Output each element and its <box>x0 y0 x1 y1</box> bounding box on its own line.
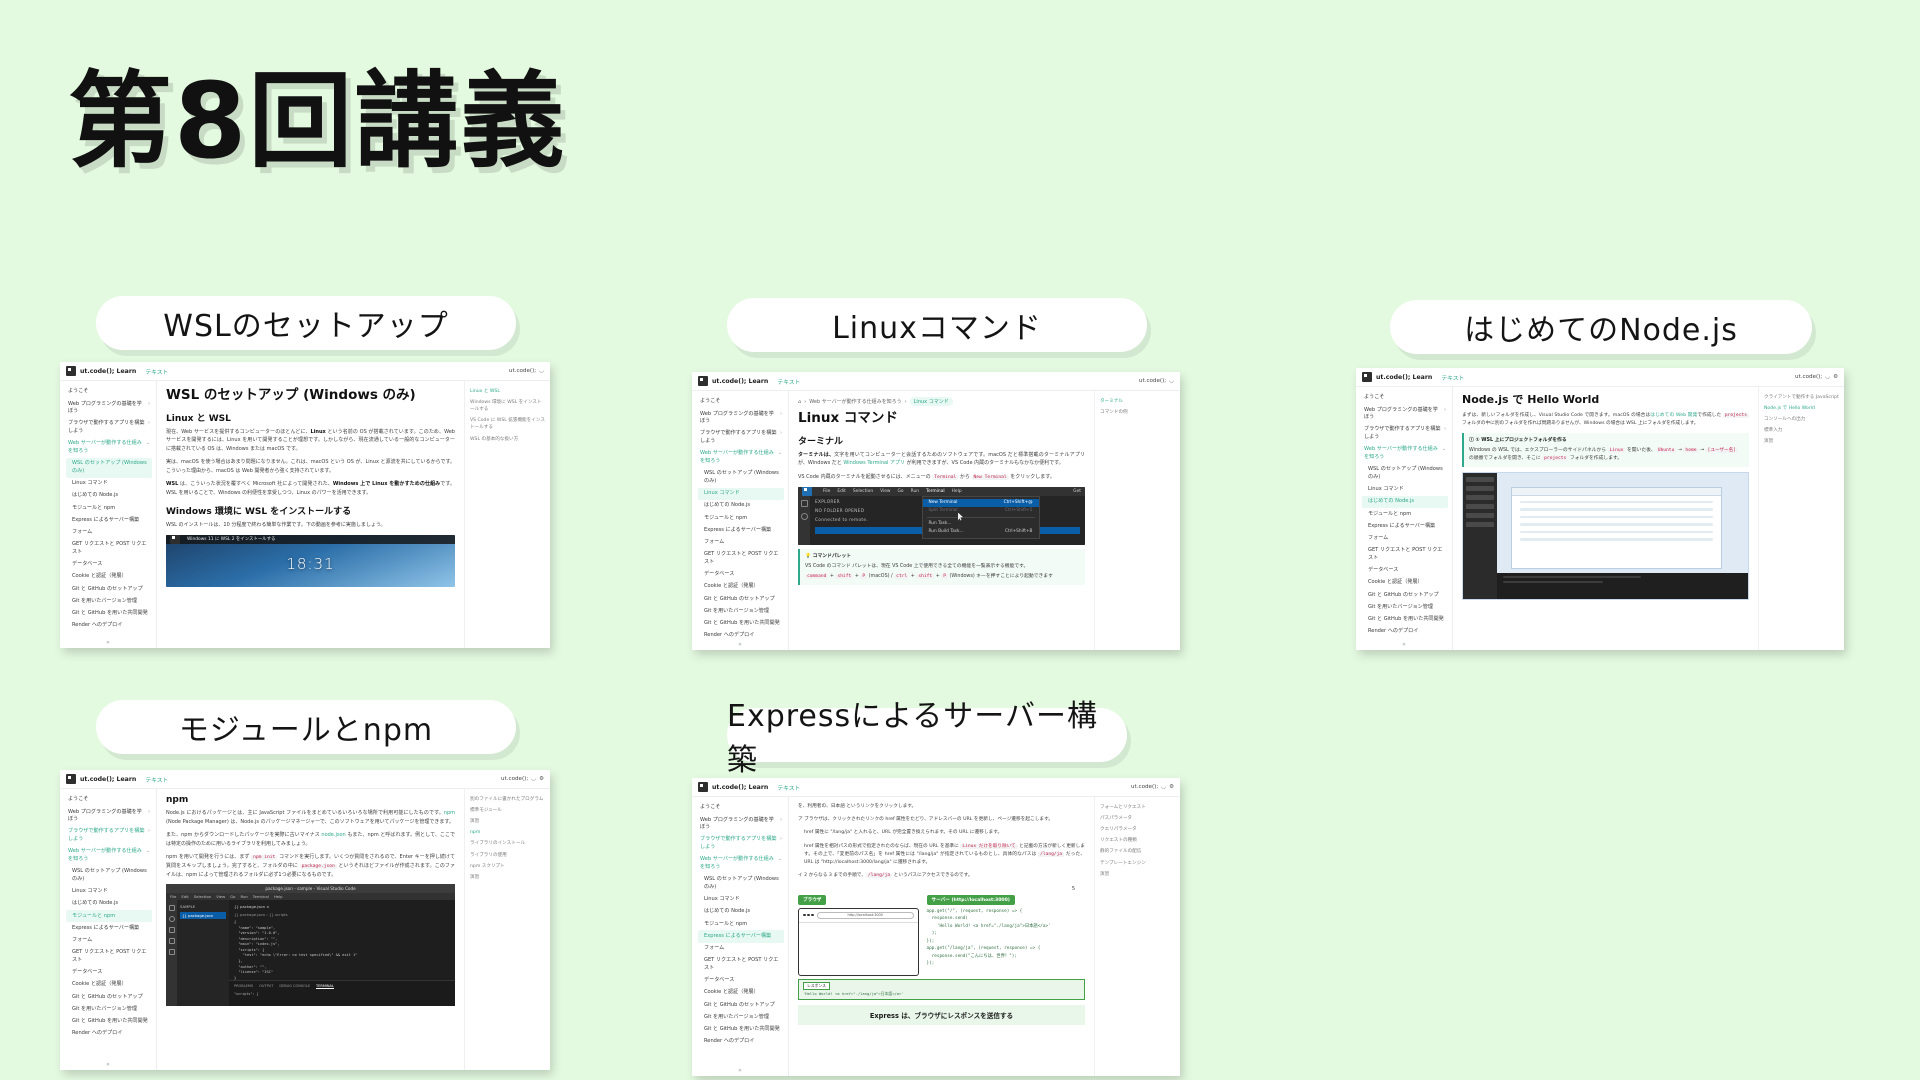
sidebar-item-render-deploy[interactable]: Render へのデプロイ <box>66 1028 152 1040</box>
inline-code: /lang/ja <box>1038 852 1064 857</box>
toc-item[interactable]: 演習 <box>470 874 545 881</box>
toc-item[interactable]: コマンドの例 <box>1100 409 1175 416</box>
sidebar-item-get-post[interactable]: GET リクエストと POST リクエスト <box>66 947 152 967</box>
sidebar-item-webserver[interactable]: Web サーバーが動作する仕組みを知ろう⌄ <box>1362 444 1448 464</box>
toc-item[interactable]: リクエストの種類 <box>1100 837 1175 844</box>
content-paragraph: WSL は、こういった状況を覆すべく Microsoft 社によって開発された、… <box>166 480 455 497</box>
text-run: から <box>958 474 971 480</box>
content-list-item: href 属性を相対パスの形式で指定されたのならば、現在の URL を基準に L… <box>798 843 1085 868</box>
right-toc[interactable]: フォームとリクエスト パスパラメータ クエリパラメータ リクエストの種類 静的フ… <box>1094 797 1180 1076</box>
sidebar-item-label: Linux コマンド <box>704 896 740 904</box>
sidebar-item-get-post[interactable]: GET リクエストと POST リクエスト <box>698 955 784 975</box>
sidebar-item-git-github-setup[interactable]: Git と GitHub のセットアップ <box>698 999 784 1011</box>
sidebar-item-git-collab[interactable]: Git と GitHub を用いた共同開発 <box>1362 614 1448 626</box>
left-sidebar[interactable]: ようこそ Web プログラミングの基礎を学ぼう› ブラウザで動作するアプリを構築… <box>60 789 157 1070</box>
sidebar-item-get-post[interactable]: GET リクエストと POST リクエスト <box>1362 545 1448 565</box>
text-run: (macOS) / <box>867 574 894 579</box>
inline-code: npm init <box>251 855 277 860</box>
sidebar-item-render-deploy[interactable]: Render へのデプロイ <box>66 620 152 632</box>
sidebar-item-cookie-auth[interactable]: Cookie と認証（発展） <box>66 571 152 583</box>
sidebar-item-label: Git と GitHub を用いた共同開発 <box>1368 616 1444 624</box>
inline-code: Linux <box>1608 448 1626 453</box>
files-icon[interactable] <box>169 905 175 911</box>
tag-browser: ブラウザ <box>798 895 826 905</box>
sidebar-item-git-version[interactable]: Git を用いたバージョン管理 <box>698 1011 784 1023</box>
panel-row <box>1466 504 1494 509</box>
sidebar-item-label: Web プログラミングの基礎を学ぼう <box>68 809 145 824</box>
sidebar-collapse-icon[interactable]: « <box>60 639 156 646</box>
file-explorer-dialog <box>1511 487 1722 569</box>
sidebar-item-linux-command[interactable]: Linux コマンド <box>66 886 152 898</box>
sidebar-item-git-github-setup[interactable]: Git と GitHub のセットアップ <box>698 593 784 605</box>
extensions-icon[interactable] <box>169 949 175 955</box>
sidebar-item-render-deploy[interactable]: Render へのデプロイ <box>698 1036 784 1048</box>
sidebar-item-linux-command[interactable]: Linux コマンド <box>1362 484 1448 496</box>
sidebar-item-label: Render へのデプロイ <box>72 622 122 630</box>
sidebar-item-label: Web サーバーが動作する仕組みを知ろう <box>68 848 143 863</box>
content-paragraph: を、利用者の、日本語 というリンクをクリックします。 <box>798 803 1085 811</box>
toc-item[interactable]: テンプレートエンジン <box>1100 860 1175 867</box>
sidebar-item-form[interactable]: フォーム <box>1362 533 1448 545</box>
menu-go[interactable]: Go <box>230 894 235 899</box>
inline-link[interactable]: node.json <box>321 832 345 838</box>
vscode-editor[interactable]: {} package.json × {} package.json › {} s… <box>229 900 455 1006</box>
terminal-menu-dropdown[interactable]: New Terminal Ctrl+Shift+@ Split Terminal… <box>922 496 1040 539</box>
sidebar-item-label: Git と GitHub のセットアップ <box>72 586 143 594</box>
vscode-dark-panel <box>1463 473 1497 599</box>
sidebar-collapse-icon[interactable]: « <box>60 1061 156 1068</box>
nav-text-link[interactable]: テキスト <box>145 367 168 376</box>
sidebar-item-database[interactable]: データベース <box>66 967 152 979</box>
menu-edit[interactable]: Edit <box>181 894 188 899</box>
content-paragraph: VS Code 内蔵のターミナルを起動させるには、メニューの Terminal … <box>798 473 1085 482</box>
toc-item[interactable]: npm スクリプト <box>470 863 545 870</box>
vscode-activitybar[interactable] <box>166 900 177 1006</box>
chevron-right-icon: › <box>780 836 782 851</box>
sidebar-item-form[interactable]: フォーム <box>698 537 784 549</box>
text-run: を開いた後、 <box>1625 448 1655 453</box>
sidebar-item-express[interactable]: Express によるサーバー構築 <box>698 930 784 942</box>
text-run: フォルダを作成します。 <box>1568 456 1622 461</box>
inline-code: command <box>805 574 828 579</box>
toc-item[interactable]: npm <box>470 829 545 836</box>
sidebar-item-form[interactable]: フォーム <box>66 935 152 947</box>
text-run: 現在、Web サービスを提供するコンピューターのほとんどに、 <box>166 429 311 435</box>
sidebar-item-get-post[interactable]: GET リクエストと POST リクエスト <box>66 539 152 559</box>
toc-item[interactable]: Windows 環境に WSL をインストールする <box>470 399 545 413</box>
topbar-brand-right[interactable]: ut.code(); <box>1139 378 1166 384</box>
sidebar-item-label: Express によるサーバー構築 <box>72 517 139 525</box>
sidebar-item-git-github-setup[interactable]: Git と GitHub のセットアップ <box>66 583 152 595</box>
sidebar-item-cookie-auth[interactable]: Cookie と認証（発展） <box>698 987 784 999</box>
text-strong: WSL <box>166 481 178 487</box>
sidebar-item-express[interactable]: Express によるサーバー構築 <box>66 922 152 934</box>
menuitem-run-task[interactable]: Run Task... <box>923 520 1039 528</box>
sidebar-item-label: Web プログラミングの基礎を学ぼう <box>1364 407 1441 422</box>
menuitem-shortcut: Ctrl+Shift+@ <box>1004 500 1033 505</box>
sidebar-item-webserver[interactable]: Web サーバーが動作する仕組みを知ろう⌄ <box>698 448 784 468</box>
right-toc[interactable]: ターミナル コマンドの例 <box>1094 391 1180 650</box>
section-label-nodejs: はじめてのNode.js <box>1390 300 1812 354</box>
sidebar-item-webserver[interactable]: Web サーバーが動作する仕組みを知ろう⌄ <box>66 438 152 458</box>
panel-row <box>1466 477 1494 482</box>
sidebar-item-label: GET リクエストと POST リクエスト <box>1368 547 1446 562</box>
sidebar-item-label: Express によるサーバー構築 <box>1368 523 1435 531</box>
sidebar-item-form[interactable]: フォーム <box>66 527 152 539</box>
text-strong: ターミナルは、 <box>798 452 834 458</box>
menu-go[interactable]: Go <box>898 489 904 494</box>
files-icon[interactable] <box>801 500 808 507</box>
sidebar-item-welcome[interactable]: ようこそ <box>698 396 784 408</box>
sidebar-collapse-icon[interactable]: « <box>692 641 788 648</box>
sidebar-item-webserver[interactable]: Web サーバーが動作する仕組みを知ろう⌄ <box>698 854 784 874</box>
sidebar-item-label: Git と GitHub を用いた共同開発 <box>704 620 780 628</box>
sidebar-item-first-nodejs[interactable]: はじめての Node.js <box>698 906 784 918</box>
sidebar-item-module-npm[interactable]: モジュールと npm <box>66 910 152 922</box>
sidebar-item-linux-command[interactable]: Linux コマンド <box>698 488 784 500</box>
toc-item[interactable]: 演習 <box>1100 871 1175 878</box>
sidebar-item-database[interactable]: データベース <box>698 569 784 581</box>
sidebar-item-module-npm[interactable]: モジュールと npm <box>66 502 152 514</box>
sidebar-item-web-basics[interactable]: Web プログラミングの基礎を学ぼう› <box>66 398 152 418</box>
editor-tab[interactable]: {} package.json × <box>234 904 450 909</box>
menu-right-label: Get <box>1073 489 1081 494</box>
sidebar-item-module-npm[interactable]: モジュールと npm <box>1362 508 1448 520</box>
nav-text-link[interactable]: テキスト <box>145 775 168 784</box>
debug-icon[interactable] <box>169 938 175 944</box>
toc-item[interactable]: パスパラメータ <box>1100 815 1175 822</box>
sidebar-item-first-nodejs[interactable]: はじめての Node.js <box>1362 496 1448 508</box>
vscode-explorer[interactable]: SAMPLE {} package.json <box>177 900 229 1006</box>
sidebar-item-git-version[interactable]: Git を用いたバージョン管理 <box>1362 601 1448 613</box>
sidebar-item-label: Cookie と認証（発展） <box>72 981 127 989</box>
text-run: まずは、新しいフォルダを作成し、Visual Studio Code で開きます… <box>1462 413 1650 418</box>
right-toc[interactable]: Linux と WSL Windows 環境に WSL をインストールする VS… <box>464 381 550 648</box>
external-link-icon[interactable]: ◡ <box>1825 374 1830 380</box>
sidebar-item-browser-apps[interactable]: ブラウザで動作するアプリを構築しよう› <box>66 826 152 846</box>
toc-item[interactable]: クライアントで動作する JavaScript <box>1764 394 1839 401</box>
sidebar-item-label: Cookie と認証（発展） <box>704 989 759 997</box>
sidebar-item-welcome[interactable]: ようこそ <box>66 794 152 806</box>
sidebar-item-wsl-setup[interactable]: WSL のセットアップ (Windows のみ) <box>698 468 784 488</box>
sidebar-item-label: Render へのデプロイ <box>704 632 754 640</box>
menu-view[interactable]: View <box>880 489 890 494</box>
sidebar-item-browser-apps[interactable]: ブラウザで動作するアプリを構築しよう› <box>698 834 784 854</box>
menu-edit[interactable]: Edit <box>837 489 846 494</box>
main-content: Node.js で Hello World まずは、新しいフォルダを作成し、Vi… <box>1453 387 1758 650</box>
sidebar-item-label: WSL のセットアップ (Windows のみ) <box>704 470 782 485</box>
site-topbar: ut.code(); Learn テキスト ut.code(); ◡ ⚙ <box>692 778 1180 797</box>
right-toc[interactable]: 別のファイルに書かれたプログラム 標準モジュール 演習 npm ライブラリのイン… <box>464 789 550 1070</box>
sidebar-item-git-version[interactable]: Git を用いたバージョン管理 <box>66 1003 152 1015</box>
sidebar-item-cookie-auth[interactable]: Cookie と認証（発展） <box>698 581 784 593</box>
sidebar-item-cookie-auth[interactable]: Cookie と認証（発展） <box>1362 577 1448 589</box>
brand-logo-icon <box>698 376 708 386</box>
toc-item[interactable]: 演習 <box>1764 438 1839 445</box>
chevron-down-icon: ⌄ <box>1442 446 1446 461</box>
sidebar-item-welcome[interactable]: ようこそ <box>66 386 152 398</box>
sidebar-item-git-collab[interactable]: Git と GitHub を用いた共同開発 <box>66 1016 152 1028</box>
left-sidebar[interactable]: ようこそ Web プログラミングの基礎を学ぼう› ブラウザで動作するアプリを構築… <box>692 797 789 1076</box>
toc-item[interactable]: ライブラリの使用 <box>470 852 545 859</box>
toc-item[interactable]: 標準入力 <box>1764 427 1839 434</box>
gear-icon[interactable]: ⚙ <box>539 776 544 782</box>
breadcrumb-sep: › <box>905 399 907 405</box>
menu-selection[interactable]: Selection <box>194 894 212 899</box>
search-icon[interactable] <box>169 916 175 922</box>
diagram-server-column: サーバー (http://localhost:3000) app.get("/"… <box>927 886 1085 976</box>
sidebar-item-webserver[interactable]: Web サーバーが動作する仕組みを知ろう⌄ <box>66 846 152 866</box>
sidebar-item-module-npm[interactable]: モジュールと npm <box>698 512 784 524</box>
content-paragraph: Node.js におけるパッケージとは、主に JavaScript ファイルをま… <box>166 809 455 826</box>
sidebar-item-label: Git を用いたバージョン管理 <box>704 1014 769 1022</box>
sidebar-item-git-collab[interactable]: Git と GitHub を用いた共同開発 <box>698 618 784 630</box>
dialog-titlebar <box>1512 488 1721 496</box>
sidebar-item-web-basics[interactable]: Web プログラミングの基礎を学ぼう› <box>698 408 784 428</box>
site-topbar: ut.code(); Learn テキスト ut.code(); ◡ ⚙ <box>60 770 550 789</box>
sidebar-item-label: Web サーバーが動作する仕組みを知ろう <box>68 440 143 455</box>
sidebar-item-express[interactable]: Express によるサーバー構築 <box>1362 520 1448 532</box>
toc-item[interactable]: WSL の基本的な扱い方 <box>470 436 545 443</box>
chevron-down-icon: ⌄ <box>146 848 150 863</box>
nav-text-link[interactable]: テキスト <box>1441 373 1464 382</box>
topbar-brand-right[interactable]: ut.code(); <box>1795 374 1822 380</box>
content-paragraph: WSL のインストールは、10 分程度で終わる簡単な作業です。下の動画を参考に実… <box>166 521 455 530</box>
toc-item[interactable]: VS Code に WSL 拡張機能をインストールする <box>470 417 545 431</box>
menu-view[interactable]: View <box>216 894 225 899</box>
content-h2: Windows 環境に WSL をインストールする <box>166 504 455 517</box>
content-title: Node.js で Hello World <box>1462 393 1749 407</box>
panel-code: "scripts": { <box>234 992 450 997</box>
sidebar-item-database[interactable]: データベース <box>1362 565 1448 577</box>
inline-link[interactable]: はじめての Web 開発 <box>1650 413 1697 418</box>
sidebar-item-cookie-auth[interactable]: Cookie と認証（発展） <box>66 979 152 991</box>
explorer-file-packagejson[interactable]: {} package.json <box>180 912 226 919</box>
left-sidebar[interactable]: ようこそ Web プログラミングの基礎を学ぼう› ブラウザで動作するアプリを構築… <box>60 381 157 648</box>
sidebar-item-label: Express によるサーバー構築 <box>72 925 139 933</box>
panel-tab-terminal[interactable]: TERMINAL <box>316 984 334 989</box>
brand-label: ut.code(); Learn <box>712 378 768 385</box>
sidebar-item-wsl-setup[interactable]: WSL のセットアップ (Windows のみ) <box>698 874 784 894</box>
sidebar-item-git-github-setup[interactable]: Git と GitHub のセットアップ <box>1362 589 1448 601</box>
sidebar-item-browser-apps[interactable]: ブラウザで動作するアプリを構築しよう› <box>1362 424 1448 444</box>
toc-item[interactable]: ライブラリのインストール <box>470 840 545 847</box>
sidebar-item-label: Linux コマンド <box>72 480 108 488</box>
menu-help[interactable]: Help <box>952 489 962 494</box>
brand-label: ut.code(); Learn <box>80 776 136 783</box>
left-sidebar[interactable]: ようこそ Web プログラミングの基礎を学ぼう› ブラウザで動作するアプリを構築… <box>692 391 789 650</box>
sidebar-item-welcome[interactable]: ようこそ <box>1362 392 1448 404</box>
menu-file[interactable]: File <box>823 489 830 494</box>
text-run: イ 2 からなる 3 までの手順で、 <box>798 873 866 878</box>
breadcrumb[interactable]: ⌂ › Web サーバーが動作する仕組みを知ろう › Linux コマンド <box>798 397 1085 406</box>
topbar-brand-right[interactable]: ut.code(); <box>1131 784 1158 790</box>
menu-terminal[interactable]: Terminal <box>253 894 269 899</box>
brand-label: ut.code(); Learn <box>80 368 136 375</box>
toc-item[interactable]: フォームとリクエスト <box>1100 804 1175 811</box>
main-content: npm Node.js におけるパッケージとは、主に JavaScript ファ… <box>157 789 464 1070</box>
toc-item[interactable]: クエリパラメータ <box>1100 826 1175 833</box>
sidebar-item-git-version[interactable]: Git を用いたバージョン管理 <box>698 605 784 617</box>
topbar-brand-right[interactable]: ut.code(); <box>509 368 536 374</box>
content-title: WSL のセットアップ (Windows のみ) <box>166 387 455 404</box>
vscode-activitybar[interactable] <box>798 496 810 545</box>
search-icon[interactable] <box>801 513 808 520</box>
sidebar-item-wsl-setup[interactable]: WSL のセットアップ (Windows のみ) <box>66 866 152 886</box>
inline-code: home <box>1683 448 1698 453</box>
chevron-right-icon: › <box>148 401 150 416</box>
diagram-step-number: 5 <box>1072 886 1075 892</box>
sidebar-item-wsl-setup[interactable]: WSL のセットアップ (Windows のみ) <box>66 458 152 478</box>
toc-item[interactable]: コンソールへの出力 <box>1764 416 1839 423</box>
sidebar-item-label: フォーム <box>72 937 92 945</box>
content-h2: ターミナル <box>798 434 1085 447</box>
menu-file[interactable]: File <box>170 894 176 899</box>
sidebar-item-git-collab[interactable]: Git と GitHub を用いた共同開発 <box>698 1024 784 1036</box>
topbar-brand-right[interactable]: ut.code(); <box>501 776 528 782</box>
page-title: 第8回講義 <box>68 62 566 182</box>
external-link-icon[interactable]: ◡ <box>1169 378 1174 384</box>
sidebar-item-label: GET リクエストと POST リクエスト <box>72 541 150 556</box>
toc-item[interactable]: Node.js で Hello World <box>1764 405 1839 412</box>
sidebar-item-first-nodejs[interactable]: はじめての Node.js <box>66 490 152 502</box>
inline-link[interactable]: Windows Terminal アプリ <box>843 460 905 466</box>
screenshot-card-nodejs: ut.code(); Learn テキスト ut.code(); ◡ ⚙ ようこ… <box>1356 368 1844 650</box>
menu-run[interactable]: Run <box>911 489 919 494</box>
sidebar-item-git-collab[interactable]: Git と GitHub を用いた共同開発 <box>66 608 152 620</box>
gear-icon[interactable]: ⚙ <box>1169 784 1174 790</box>
toc-item[interactable]: Linux と WSL <box>470 388 545 395</box>
menu-help[interactable]: Help <box>274 894 283 899</box>
callout-paragraph: command + shift + P (macOS) / ctrl + shi… <box>805 573 1080 581</box>
screenshot-card-linux: ut.code(); Learn テキスト ut.code(); ◡ ようこそ … <box>692 372 1180 650</box>
topbar-right: ut.code(); ◡ ⚙ <box>1795 374 1838 380</box>
menuitem-run-build-task[interactable]: Run Build Task... Ctrl+Shift+B <box>923 528 1039 536</box>
menuitem-split-terminal[interactable]: Split Terminal Ctrl+Shift+5 <box>923 507 1039 515</box>
sidebar-item-form[interactable]: フォーム <box>698 943 784 955</box>
topbar-right: ut.code(); ◡ <box>1139 378 1174 384</box>
sidebar-item-web-basics[interactable]: Web プログラミングの基礎を学ぼう› <box>698 814 784 834</box>
sidebar-item-label: Cookie と認証（発展） <box>72 573 127 581</box>
breadcrumb-parent[interactable]: Web サーバーが動作する仕組みを知ろう <box>809 398 901 405</box>
toc-item[interactable]: 標準モジュール <box>470 807 545 814</box>
right-toc[interactable]: クライアントで動作する JavaScript Node.js で Hello W… <box>1758 387 1844 650</box>
section-label-wsl: WSLのセットアップ <box>96 296 516 350</box>
text-run: href 属性を相対パスの形式で指定されたのならば、現在の URL を基準に <box>804 844 960 849</box>
vscode-screenshot: File Edit Selection View Go Run Terminal… <box>798 487 1085 545</box>
browser-url-bar[interactable]: http://localhost:3000 <box>817 912 914 919</box>
toc-item[interactable]: 静的ファイルの配信 <box>1100 848 1175 855</box>
server-code: app.get("/", (request, response) => { re… <box>927 908 1085 968</box>
menu-selection[interactable]: Selection <box>853 489 873 494</box>
sidebar-item-database[interactable]: データベース <box>66 559 152 571</box>
sidebar-collapse-icon[interactable]: « <box>692 1067 788 1074</box>
vscode-menubar[interactable]: File Edit Selection View Go Run Terminal… <box>798 487 1085 496</box>
inline-code: Linux だけを取り除いて <box>960 844 1017 849</box>
toc-item[interactable]: 別のファイルに書かれたプログラム <box>470 796 545 803</box>
vscode-titlebar: package.json - sample - Visual Studio Co… <box>166 884 455 893</box>
home-icon[interactable]: ⌂ <box>798 399 801 405</box>
inline-link[interactable]: npm <box>444 810 455 816</box>
menuitem-label: Run Task... <box>929 521 952 526</box>
nav-text-link[interactable]: テキスト <box>777 377 800 386</box>
sidebar-item-git-version[interactable]: Git を用いたバージョン管理 <box>66 595 152 607</box>
panel-tab-problems[interactable]: PROBLEMS <box>234 984 253 989</box>
sidebar-item-label: ようこそ <box>700 804 720 812</box>
menu-divider <box>927 517 1035 518</box>
sidebar-item-browser-apps[interactable]: ブラウザで動作するアプリを構築しよう› <box>66 418 152 438</box>
brand-logo-icon <box>1362 372 1372 382</box>
panel-tabs[interactable]: PROBLEMS OUTPUT DEBUG CONSOLE TERMINAL <box>234 984 450 989</box>
menuitem-new-terminal[interactable]: New Terminal Ctrl+Shift+@ <box>923 499 1039 507</box>
gear-icon[interactable]: ⚙ <box>1833 374 1838 380</box>
section-label-npm: モジュールとnpm <box>96 700 516 754</box>
sidebar-item-first-nodejs[interactable]: はじめての Node.js <box>66 898 152 910</box>
sidebar-item-browser-apps[interactable]: ブラウザで動作するアプリを構築しよう› <box>698 428 784 448</box>
nav-text-link[interactable]: テキスト <box>777 783 800 792</box>
screenshot-card-npm: ut.code(); Learn テキスト ut.code(); ◡ ⚙ ようこ… <box>60 770 550 1070</box>
vscode-menubar[interactable]: File Edit Selection View Go Run Terminal… <box>166 893 455 900</box>
sidebar-item-wsl-setup[interactable]: WSL のセットアップ (Windows のみ) <box>1362 464 1448 484</box>
screenshot-card-wsl: ut.code(); Learn テキスト ut.code(); ◡ ようこそ … <box>60 362 550 648</box>
callout-command-palette: 💡 コマンドパレット VS Code のコマンド パレットは、現在 VS Cod… <box>798 549 1085 586</box>
sidebar-item-label: Express によるサーバー構築 <box>704 527 771 535</box>
external-link-icon[interactable]: ◡ <box>539 368 544 374</box>
panel-tab-debug-console[interactable]: DEBUG CONSOLE <box>279 984 310 989</box>
sidebar-item-label: データベース <box>1368 567 1398 575</box>
sidebar-item-express[interactable]: Express によるサーバー構築 <box>698 524 784 536</box>
menu-run[interactable]: Run <box>241 894 248 899</box>
toc-item[interactable]: 演習 <box>470 818 545 825</box>
content-paragraph: 現在、Web サービスを提供するコンピューターのほとんどに、Linux という名… <box>166 428 455 454</box>
sidebar-collapse-icon[interactable]: « <box>1356 641 1452 648</box>
embedded-video[interactable]: Windows 11 に WSL 2 をインストールする 18:31 <box>166 535 455 587</box>
source-control-icon[interactable] <box>169 927 175 933</box>
sidebar-item-get-post[interactable]: GET リクエストと POST リクエスト <box>698 549 784 569</box>
panel-tab-output[interactable]: OUTPUT <box>259 984 273 989</box>
sidebar-item-label: はじめての Node.js <box>704 502 750 510</box>
sidebar-item-database[interactable]: データベース <box>698 975 784 987</box>
sidebar-item-web-basics[interactable]: Web プログラミングの基礎を学ぼう› <box>1362 404 1448 424</box>
panel-row <box>1466 495 1494 500</box>
brand-label: ut.code(); Learn <box>1376 374 1432 381</box>
sidebar-item-web-basics[interactable]: Web プログラミングの基礎を学ぼう› <box>66 806 152 826</box>
sidebar-item-module-npm[interactable]: モジュールと npm <box>698 918 784 930</box>
brand-logo-icon <box>66 366 76 376</box>
sidebar-item-git-github-setup[interactable]: Git と GitHub のセットアップ <box>66 991 152 1003</box>
video-clock: 18:31 <box>286 555 334 573</box>
content-paragraph: 実は、macOS を使う場合はあまり問題になりません。これは、macOS という… <box>166 458 455 475</box>
sidebar-item-express[interactable]: Express によるサーバー構築 <box>66 514 152 526</box>
sidebar-item-label: フォーム <box>72 529 92 537</box>
sidebar-item-linux-command[interactable]: Linux コマンド <box>698 894 784 906</box>
left-sidebar[interactable]: ようこそ Web プログラミングの基礎を学ぼう› ブラウザで動作するアプリを構築… <box>1356 387 1453 650</box>
external-link-icon[interactable]: ◡ <box>1161 784 1166 790</box>
explorer-root[interactable]: SAMPLE <box>180 904 226 909</box>
menu-terminal[interactable]: Terminal <box>926 489 945 494</box>
text-run: Windows の WSL では、エクスプローラーのサイドパネルから <box>1469 448 1608 453</box>
sidebar-item-render-deploy[interactable]: Render へのデプロイ <box>1362 626 1448 638</box>
sidebar-item-label: Cookie と認証（発展） <box>1368 579 1423 587</box>
external-link-icon[interactable]: ◡ <box>531 776 536 782</box>
sidebar-item-first-nodejs[interactable]: はじめての Node.js <box>698 500 784 512</box>
sidebar-item-welcome[interactable]: ようこそ <box>698 802 784 814</box>
toc-item[interactable]: ターミナル <box>1100 398 1175 405</box>
embedded-screenshot-explorer <box>1462 472 1749 600</box>
sidebar-item-label: Git と GitHub を用いた共同開発 <box>72 610 148 618</box>
sidebar-item-linux-command[interactable]: Linux コマンド <box>66 478 152 490</box>
sidebar-item-label: GET リクエストと POST リクエスト <box>704 551 782 566</box>
